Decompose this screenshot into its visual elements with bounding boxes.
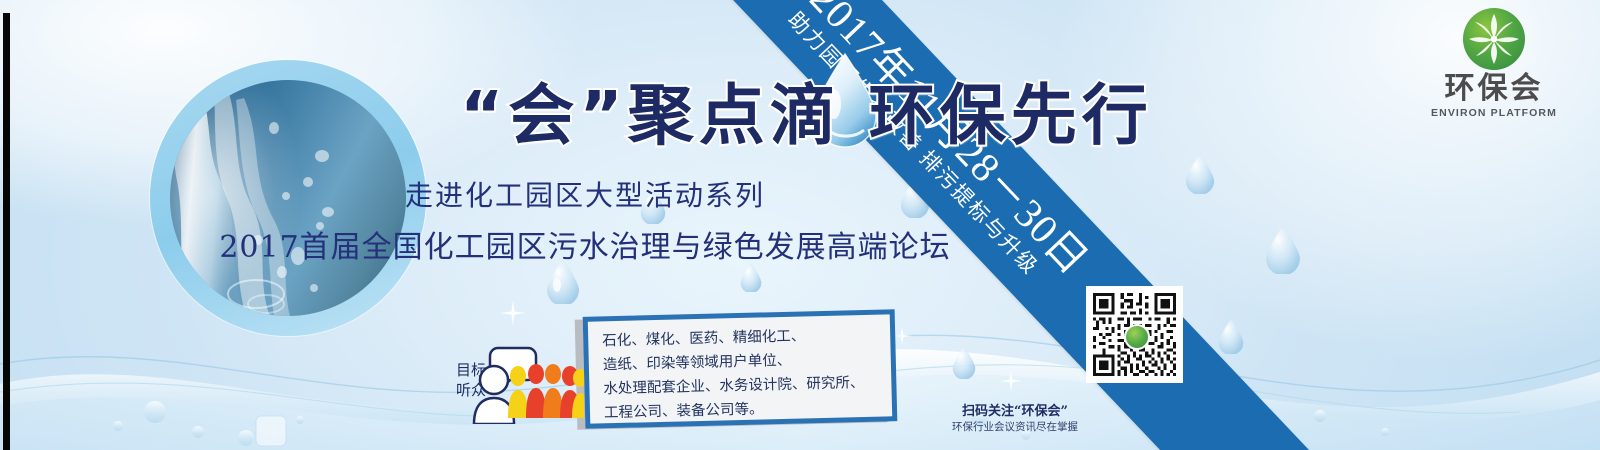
brand-name-cn: 环保会 <box>1410 74 1578 104</box>
brand-name-en: ENVIRON PLATFORM <box>1410 107 1578 119</box>
target-audience-box: 石化、煤化、医药、精细化工、 造纸、印染等领域用户单位、 水处理配套企业、水务设… <box>583 309 898 429</box>
audience-callout: 目标 听众 <box>452 358 582 422</box>
subtitle-series: 走进化工园区大型活动系列 <box>0 174 1600 214</box>
qr-center-logo-icon <box>1124 324 1150 350</box>
water-droplet-icon <box>952 345 976 379</box>
sparkle-icon <box>1000 370 1022 392</box>
water-droplet-icon <box>1218 318 1244 354</box>
event-banner: “会”聚点滴 环保先行 走进化工园区大型活动系列 2017首届全国化工园区污水治… <box>0 0 1600 450</box>
page-title-text: “会”聚点滴 环保先行 <box>460 77 1153 154</box>
sparkle-icon <box>500 300 526 326</box>
brand-logo[interactable]: 环保会 ENVIRON PLATFORM <box>1410 8 1578 119</box>
qr-code[interactable] <box>1086 286 1183 383</box>
page-title: “会”聚点滴 环保先行 <box>460 62 1100 160</box>
qr-caption-primary: 扫码关注“环保会” <box>915 400 1115 419</box>
green-leaf-circle-icon <box>1463 8 1525 70</box>
subtitle-forum: 2017首届全国化工园区污水治理与绿色发展高端论坛 <box>0 222 1600 266</box>
water-droplet-icon <box>740 262 762 292</box>
qr-caption-secondary: 环保行业会议资讯尽在掌握 <box>915 419 1115 434</box>
people-group-icon <box>508 362 584 418</box>
